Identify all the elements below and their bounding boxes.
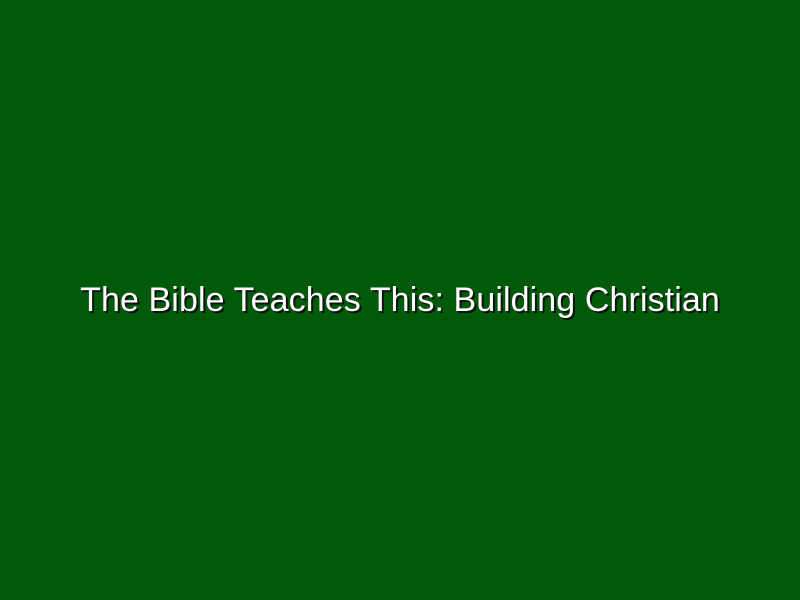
title-card: The Bible Teaches This: Building Christi…: [0, 0, 800, 600]
headline-text: The Bible Teaches This: Building Christi…: [0, 279, 800, 321]
